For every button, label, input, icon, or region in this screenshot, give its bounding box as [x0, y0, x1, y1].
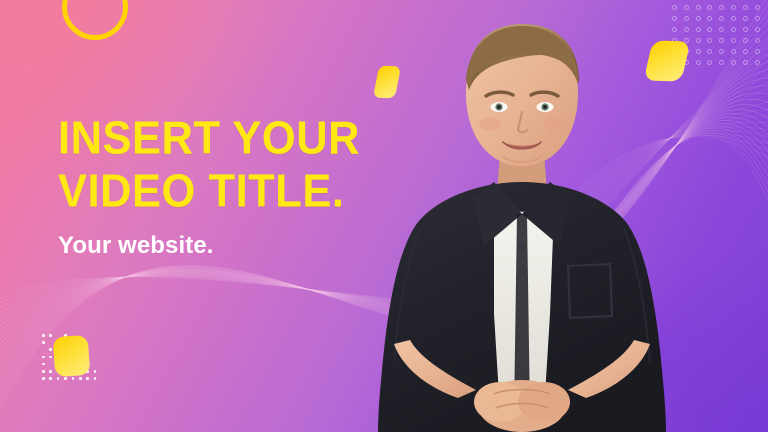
dot: [672, 16, 677, 21]
dot: [684, 5, 689, 10]
dot: [696, 60, 701, 65]
dot: [707, 49, 712, 54]
dot: [94, 370, 97, 373]
dot: [49, 377, 52, 380]
yellow-chip-bottom-icon: [53, 335, 91, 377]
title-line-1: INSERT YOUR: [58, 109, 408, 168]
dot: [707, 16, 712, 21]
dot: [755, 5, 760, 10]
dot: [731, 16, 736, 21]
presenter-photo: [372, 14, 672, 432]
dot: [684, 16, 689, 21]
dot: [743, 49, 748, 54]
dot: [672, 27, 677, 32]
video-title-slide: INSERT YOUR VIDEO TITLE. Your website.: [0, 0, 768, 432]
dot: [719, 38, 724, 43]
dot: [719, 5, 724, 10]
dot: [755, 27, 760, 32]
dot: [743, 38, 748, 43]
dot: [755, 49, 760, 54]
dot: [79, 377, 82, 380]
dot: [64, 377, 67, 380]
dot: [707, 60, 712, 65]
dot: [743, 5, 748, 10]
dot: [49, 348, 52, 351]
dot: [684, 27, 689, 32]
dot: [719, 60, 724, 65]
dot: [696, 5, 701, 10]
dot: [696, 38, 701, 43]
dot: [743, 16, 748, 21]
dot: [42, 334, 45, 337]
dot: [731, 60, 736, 65]
dot: [49, 356, 52, 359]
dot: [94, 377, 97, 380]
dot: [707, 38, 712, 43]
dot: [743, 27, 748, 32]
dot: [719, 16, 724, 21]
dot: [49, 334, 52, 337]
dot: [731, 27, 736, 32]
dot: [743, 60, 748, 65]
subtitle-text: Your website.: [58, 232, 388, 260]
dot: [707, 5, 712, 10]
dot: [696, 49, 701, 54]
dot: [42, 363, 45, 366]
dot: [731, 38, 736, 43]
dot: [42, 377, 45, 380]
dot: [755, 60, 760, 65]
dot: [42, 356, 45, 359]
dot: [696, 16, 701, 21]
dot: [72, 377, 75, 380]
title-text-block: INSERT YOUR VIDEO TITLE. Your website.: [58, 112, 388, 260]
title-line-2: VIDEO TITLE.: [58, 162, 408, 221]
dot: [49, 370, 52, 373]
dot: [707, 27, 712, 32]
dot: [719, 49, 724, 54]
dot: [696, 27, 701, 32]
dot: [57, 377, 60, 380]
dot: [731, 49, 736, 54]
dot: [42, 370, 45, 373]
dot: [672, 5, 677, 10]
dot: [755, 38, 760, 43]
dot: [719, 27, 724, 32]
dot: [731, 5, 736, 10]
dot: [42, 341, 45, 344]
dot: [86, 377, 89, 380]
dot: [755, 16, 760, 21]
